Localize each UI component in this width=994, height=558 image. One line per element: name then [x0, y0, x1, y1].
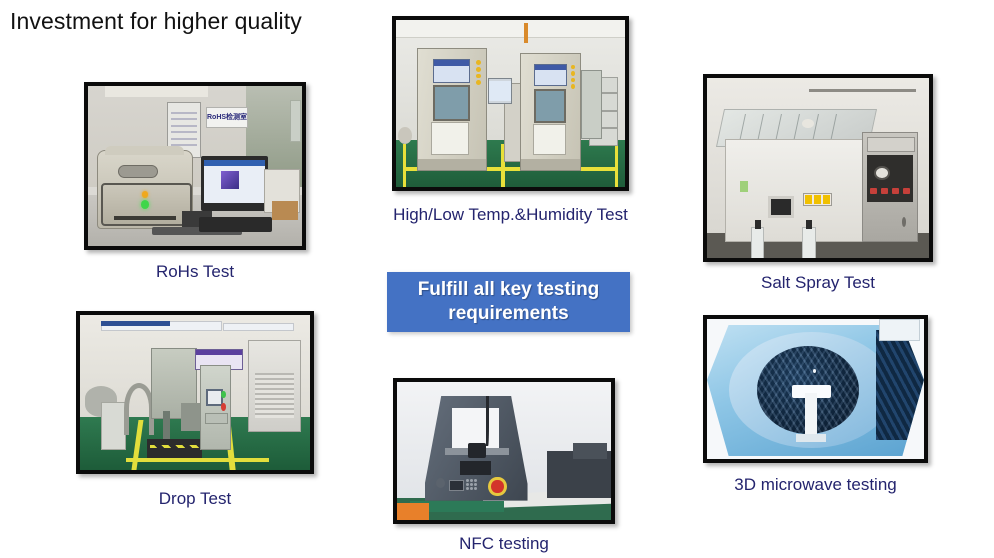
panel-nameplate: [205, 413, 228, 423]
slide-canvas: Investment for higher quality RoHS检测室: [0, 0, 994, 558]
chamber-indicator-lights: [571, 65, 575, 88]
yellow-indicator-panel: [803, 193, 833, 206]
machine-top: [105, 146, 184, 155]
antenna-positioner-base: [796, 434, 826, 442]
chamber-label: [740, 181, 748, 192]
test-chamber-right: [520, 53, 582, 170]
caption-3d-microwave: 3D microwave testing: [695, 475, 936, 495]
rohs-sign-text: RoHS检测室: [207, 108, 248, 127]
ceiling-light-secondary: [223, 323, 294, 331]
emergency-stop-button[interactable]: [488, 477, 506, 497]
keyboard: [199, 217, 272, 231]
photo-3d-microwave-testing: [707, 319, 924, 459]
chamber-base: [521, 159, 581, 169]
caption-salt-spray: Salt Spray Test: [703, 273, 933, 293]
photo-frame-nfc: [393, 378, 615, 524]
ceiling-equipment: [879, 319, 920, 341]
floor-equipment: [398, 127, 412, 144]
chamber-viewport: [768, 196, 793, 218]
lid-knob: [802, 119, 813, 128]
callout-text: Fulfill all key testing requirements: [418, 278, 600, 327]
chamber-base: [418, 159, 487, 170]
machine-display: [449, 480, 463, 491]
flexible-hose: [124, 383, 155, 435]
chamber-document: [533, 124, 566, 156]
impact-plate: [147, 439, 202, 458]
rohs-room-sign: RoHS检测室: [206, 107, 249, 128]
control-panel-cabinet: [862, 132, 917, 242]
floor-marking-front: [126, 458, 269, 463]
card-nfc: NFC testing: [393, 378, 615, 558]
antenna-positioner-column: [805, 393, 817, 438]
cable: [486, 396, 488, 446]
green-button[interactable]: [221, 391, 226, 399]
photo-drop-test: [80, 315, 310, 470]
card-3d-microwave: 3D microwave testing: [703, 315, 928, 500]
left-control-box: [101, 402, 126, 451]
reference-marker: [813, 369, 816, 373]
hmi-screen: [489, 81, 511, 101]
card-drop: Drop Test: [76, 311, 314, 516]
caption-drop: Drop Test: [76, 489, 314, 509]
panel-top: [867, 137, 916, 152]
floor-marking-right: [615, 144, 618, 187]
control-buttons: [870, 188, 909, 195]
photo-frame-salt-spray: [703, 74, 933, 262]
card-salt-spray: Salt Spray Test: [703, 74, 933, 302]
chamber-control-display: [433, 59, 471, 83]
monitor-screen: [204, 160, 265, 204]
ceiling: [396, 20, 625, 38]
drop-test-control-panel: [200, 365, 232, 451]
machine-lid-handle: [118, 165, 158, 178]
card-rohs: RoHS检测室: [84, 82, 306, 287]
machine-nameplate: [114, 216, 176, 220]
callout-line-1: Fulfill all key testing: [418, 278, 600, 302]
adjacent-equipment-top: [573, 443, 607, 460]
photo-frame-3d-microwave: [703, 315, 928, 463]
photo-rohs-test: RoHS检测室: [88, 86, 302, 246]
caption-rohs: RoHs Test: [84, 262, 306, 282]
machine-logo: [436, 478, 445, 488]
spectrometer-machine: [97, 150, 193, 229]
orange-cable: [524, 23, 527, 43]
collection-bottle-right: [802, 227, 815, 258]
screen-spectrum-image: [221, 171, 239, 189]
chamber-window: [534, 89, 567, 123]
air-conditioner-unit: [248, 340, 301, 432]
chamber-indicator-lights: [476, 60, 481, 84]
chamber-window: [433, 85, 470, 120]
cardboard-box: [272, 201, 298, 220]
salt-spray-chamber-body: [725, 139, 865, 242]
panel-knob: [902, 217, 906, 227]
test-head: [468, 443, 486, 458]
callout-fulfill-testing: Fulfill all key testing requirements: [387, 272, 630, 332]
photo-nfc-testing: [397, 382, 611, 520]
wall-panel: [290, 100, 301, 142]
machine-keypad[interactable]: [466, 479, 477, 491]
wall-rail: [809, 89, 916, 92]
collection-bottle-left: [751, 227, 764, 258]
photo-frame-rohs: RoHS检测室: [84, 82, 306, 250]
chamber-document: [431, 122, 469, 155]
caption-nfc: NFC testing: [393, 534, 615, 554]
floor-marking-left: [403, 144, 406, 187]
anechoic-chamber-interior: [707, 325, 924, 457]
test-chamber-left: [417, 48, 488, 170]
card-temp-humidity: High/Low Temp.&Humidity Test: [392, 16, 629, 231]
photo-temp-humidity-test: [396, 20, 625, 187]
test-stage: [460, 461, 491, 476]
callout-line-2: requirements: [418, 302, 600, 326]
photo-frame-drop: [76, 311, 314, 474]
photo-salt-spray-test: [707, 78, 929, 258]
ac-grille: [255, 373, 293, 418]
caption-temp-humidity: High/Low Temp.&Humidity Test: [387, 205, 634, 225]
control-cabinet: [581, 70, 601, 139]
pressure-gauge: [874, 166, 890, 180]
nfc-test-machine-body: [425, 396, 528, 501]
ceiling-light-blue-band: [101, 321, 170, 326]
ceiling-strip: [105, 86, 208, 97]
orange-floor-marking: [397, 503, 429, 520]
computer-monitor: [201, 156, 267, 210]
page-title: Investment for higher quality: [10, 8, 302, 36]
chamber-control-display: [534, 64, 567, 87]
hmi-touch-panel: [488, 78, 513, 103]
red-button[interactable]: [221, 403, 226, 411]
photo-frame-temp-humidity: [392, 16, 629, 191]
panel-face: [867, 155, 914, 203]
screen-titlebar: [204, 160, 265, 166]
